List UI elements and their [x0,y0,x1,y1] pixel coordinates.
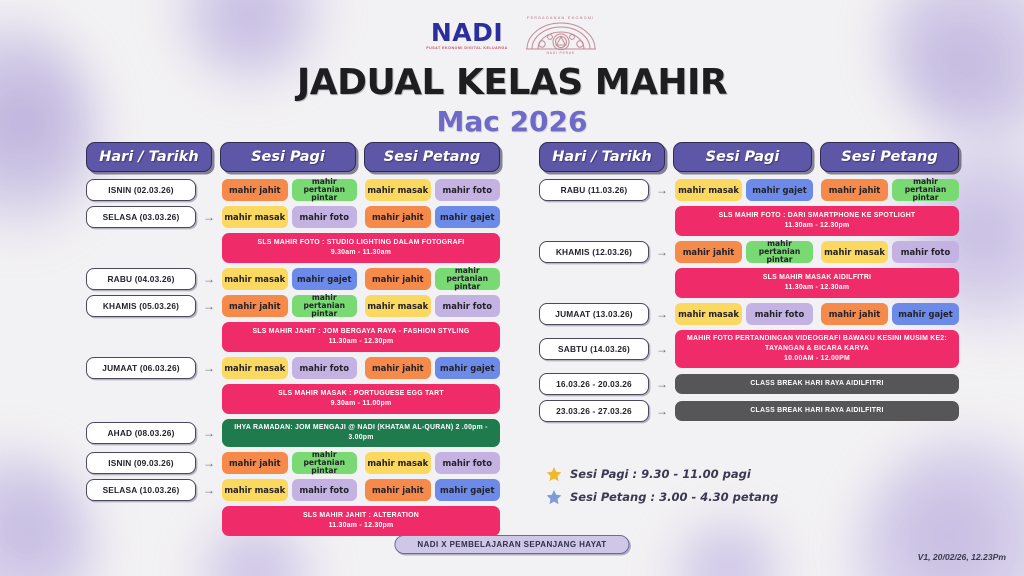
banner-row: SLS MAHIR FOTO : DARI SMARTPHONE KE SPOT… [539,206,959,236]
banner-line: 11.30am - 12.30pm [785,221,850,231]
session-banner[interactable]: SLS MAHIR FOTO : STUDIO LIGHTING DALAM F… [222,233,500,263]
table-row: ISNIN (02.03.26)mahir jahitmahir pertani… [86,179,500,201]
table-body-right: RABU (11.03.26)→mahir masakmahir gajetma… [539,179,959,422]
day-date-cell[interactable]: RABU (04.03.26) [86,268,196,290]
sessions-group: mahir jahitmahir pertanian pintarmahir m… [222,295,500,317]
session-morning: mahir masakmahir foto [222,479,357,501]
class-pill[interactable]: mahir foto [435,179,501,201]
session-morning: mahir masakmahir gajet [222,268,357,290]
banner-line: 11.30am - 12.30am [785,283,849,293]
table-row: KHAMIS (12.03.26)→mahir jahitmahir perta… [539,241,959,263]
session-morning: mahir masakmahir gajet [675,179,813,201]
class-pill[interactable]: mahir pertanian pintar [892,179,959,201]
poster-canvas: NADI PUSAT EKONOMI DIGITAL KELUARGA PERB… [0,0,1024,576]
banner-row: SLS MAHIR MASAK : PORTUGUESE EGG TART9.3… [86,384,500,414]
day-date-cell[interactable]: RABU (11.03.26) [539,179,649,201]
class-pill[interactable]: mahir jahit [365,268,431,290]
nadi-logo-subtext: PUSAT EKONOMI DIGITAL KELUARGA [426,47,507,51]
star-icon-evening [546,489,562,505]
column-header-morning: Sesi Pagi [220,142,356,172]
banner-wrap: CLASS BREAK HARI RAYA AIDILFITRI [675,374,959,394]
banner-wrap: SLS MAHIR FOTO : STUDIO LIGHTING DALAM F… [222,233,500,263]
day-date-cell[interactable]: 23.03.26 - 27.03.26 [539,400,649,422]
banner-line: CLASS BREAK HARI RAYA AIDILFITRI [750,379,883,389]
class-pill[interactable]: mahir gajet [435,479,501,501]
day-date-cell[interactable]: SELASA (10.03.26) [86,479,196,501]
sessions-group: mahir masakmahir fotomahir jahitmahir ga… [222,357,500,379]
session-evening: mahir masakmahir foto [365,295,500,317]
table-row: SABTU (14.03.26)→MAHIR FOTO PERTANDINGAN… [539,330,959,368]
sessions-group: mahir masakmahir fotomahir jahitmahir ga… [222,206,500,228]
session-evening: mahir jahitmahir gajet [365,479,500,501]
star-icon-morning [546,466,562,482]
table-row: ISNIN (09.03.26)→mahir jahitmahir pertan… [86,452,500,474]
decorative-blob [0,451,95,576]
class-pill[interactable]: mahir foto [292,206,358,228]
table-header-row: Hari / Tarikh Sesi Pagi Sesi Petang [86,140,500,174]
arrow-icon: → [202,457,216,469]
arrow-icon: → [655,308,669,320]
class-pill[interactable]: mahir foto [746,303,813,325]
class-pill[interactable]: mahir masak [222,479,288,501]
class-pill[interactable]: mahir jahit [365,206,431,228]
seal-bottom-text: NADI PERAK [546,51,575,55]
class-pill[interactable]: mahir gajet [892,303,959,325]
seal-emblem-icon [524,20,598,50]
legend-item: Sesi Pagi : 9.30 - 11.00 pagi [546,466,778,482]
class-pill[interactable]: mahir masak [222,268,288,290]
column-header-evening: Sesi Petang [820,142,959,172]
banner-line: 9.30am - 11.00pm [331,399,392,409]
arrow-icon: → [655,378,669,390]
banner-row: SLS MAHIR JAHIT : JOM BERGAYA RAYA - FAS… [86,322,500,352]
nadi-wordmark: NADI [431,20,503,45]
session-banner[interactable]: SLS MAHIR JAHIT : JOM BERGAYA RAYA - FAS… [222,322,500,352]
banner-line: SLS MAHIR JAHIT : JOM BERGAYA RAYA - FAS… [252,327,469,337]
session-banner[interactable]: CLASS BREAK HARI RAYA AIDILFITRI [675,374,959,394]
table-row: KHAMIS (05.03.26)→mahir jahitmahir perta… [86,295,500,317]
session-banner[interactable]: SLS MAHIR FOTO : DARI SMARTPHONE KE SPOT… [675,206,959,236]
class-pill[interactable]: mahir foto [292,479,358,501]
class-pill[interactable]: mahir foto [435,452,501,474]
table-row: SELASA (03.03.26)→mahir masakmahir fotom… [86,206,500,228]
version-stamp: V1, 20/02/26, 12.23Pm [918,552,1006,562]
banner-line: TAYANGAN & BICARA KARYA [765,344,869,354]
arrow-icon: → [202,273,216,285]
arrow-icon: → [655,405,669,417]
poster-header: NADI PUSAT EKONOMI DIGITAL KELUARGA PERB… [0,14,1024,138]
banner-line: 11.30am - 12.30pm [329,337,394,347]
banner-line: SLS MAHIR FOTO : DARI SMARTPHONE KE SPOT… [719,211,916,221]
class-pill[interactable]: mahir jahit [222,295,288,317]
sessions-group: mahir jahitmahir pertanian pintarmahir m… [675,241,959,263]
banner-line: SLS MAHIR MASAK : PORTUGUESE EGG TART [278,389,444,399]
banner-line: 9.30am - 11.30am [331,248,391,258]
table-row: JUMAAT (06.03.26)→mahir masakmahir fotom… [86,357,500,379]
arrow-icon: → [202,484,216,496]
session-evening: mahir jahitmahir pertanian pintar [821,179,959,201]
table-row: RABU (04.03.26)→mahir masakmahir gajetma… [86,268,500,290]
class-pill[interactable]: mahir foto [292,357,358,379]
banner-row: SLS MAHIR FOTO : STUDIO LIGHTING DALAM F… [86,233,500,263]
class-pill[interactable]: mahir jahit [821,303,888,325]
class-pill[interactable]: mahir masak [821,241,888,263]
day-date-cell[interactable]: JUMAAT (13.03.26) [539,303,649,325]
session-banner[interactable]: CLASS BREAK HARI RAYA AIDILFITRI [675,401,959,421]
session-banner[interactable]: IHYA RAMADAN: JOM MENGAJI @ NADI (KHATAM… [222,419,500,447]
banner-line: MAHIR FOTO PERTANDINGAN VIDEOGRAFI BAWAK… [687,334,947,344]
banner-row: SLS MAHIR JAHIT : ALTERATION11.30am - 12… [86,506,500,536]
session-evening: mahir jahitmahir gajet [365,357,500,379]
session-banner[interactable]: SLS MAHIR JAHIT : ALTERATION11.30am - 12… [222,506,500,536]
day-date-cell[interactable]: ISNIN (09.03.26) [86,452,196,474]
class-pill[interactable]: mahir jahit [365,357,431,379]
banner-line: CLASS BREAK HARI RAYA AIDILFITRI [750,406,883,416]
class-pill[interactable]: mahir masak [675,303,742,325]
arrow-icon: → [202,300,216,312]
session-morning: mahir masakmahir foto [222,206,357,228]
table-row: RABU (11.03.26)→mahir masakmahir gajetma… [539,179,959,201]
legend: Sesi Pagi : 9.30 - 11.00 pagi Sesi Petan… [546,466,778,512]
banner-wrap: SLS MAHIR JAHIT : JOM BERGAYA RAYA - FAS… [222,322,500,352]
page-title: JADUAL KELAS MAHIR [0,62,1024,103]
column-header-morning: Sesi Pagi [673,142,812,172]
session-evening: mahir masakmahir foto [821,241,959,263]
class-pill[interactable]: mahir jahit [222,179,288,201]
class-pill[interactable]: mahir jahit [675,241,742,263]
class-pill[interactable]: mahir pertanian pintar [292,452,358,474]
arrow-icon: → [202,427,216,439]
session-evening: mahir jahitmahir pertanian pintar [365,268,500,290]
sessions-group: mahir masakmahir gajetmahir jahitmahir p… [222,268,500,290]
class-pill[interactable]: mahir gajet [292,268,358,290]
banner-line: SLS MAHIR JAHIT : ALTERATION [303,511,419,521]
day-date-cell[interactable]: KHAMIS (05.03.26) [86,295,196,317]
day-date-cell[interactable]: 16.03.26 - 20.03.26 [539,373,649,395]
session-morning: mahir jahitmahir pertanian pintar [675,241,813,263]
class-pill[interactable]: mahir pertanian pintar [746,241,813,263]
banner-wrap: SLS MAHIR FOTO : DARI SMARTPHONE KE SPOT… [675,206,959,236]
session-evening: mahir jahitmahir gajet [365,206,500,228]
sessions-group: mahir masakmahir fotomahir jahitmahir ga… [222,479,500,501]
nadi-logo: NADI PUSAT EKONOMI DIGITAL KELUARGA [426,20,507,51]
class-pill[interactable]: mahir jahit [821,179,888,201]
class-pill[interactable]: mahir foto [435,295,501,317]
class-pill[interactable]: mahir masak [365,452,431,474]
session-banner[interactable]: SLS MAHIR MASAK AIDILFITRI11.30am - 12.3… [675,268,959,298]
table-body-left: ISNIN (02.03.26)mahir jahitmahir pertani… [86,179,500,536]
class-pill[interactable]: mahir jahit [222,452,288,474]
banner-wrap: IHYA RAMADAN: JOM MENGAJI @ NADI (KHATAM… [222,419,500,447]
class-pill[interactable]: mahir gajet [435,206,501,228]
banner-row: SLS MAHIR MASAK AIDILFITRI11.30am - 12.3… [539,268,959,298]
sessions-group: mahir masakmahir gajetmahir jahitmahir p… [675,179,959,201]
class-pill[interactable]: mahir pertanian pintar [435,268,501,290]
sessions-group: mahir jahitmahir pertanian pintarmahir m… [222,452,500,474]
session-evening: mahir masakmahir foto [365,179,500,201]
arrow-icon: → [202,362,216,374]
page-subtitle: Mac 2026 [0,105,1024,138]
table-row: 16.03.26 - 20.03.26→CLASS BREAK HARI RAY… [539,373,959,395]
class-pill[interactable]: mahir pertanian pintar [292,179,358,201]
class-pill[interactable]: mahir masak [675,179,742,201]
session-evening: mahir masakmahir foto [365,452,500,474]
banner-wrap: SLS MAHIR MASAK : PORTUGUESE EGG TART9.3… [222,384,500,414]
session-banner[interactable]: SLS MAHIR MASAK : PORTUGUESE EGG TART9.3… [222,384,500,414]
day-date-cell[interactable]: SABTU (14.03.26) [539,338,649,360]
class-pill[interactable]: mahir masak [222,206,288,228]
table-header-row: Hari / Tarikh Sesi Pagi Sesi Petang [539,140,959,174]
table-row: 23.03.26 - 27.03.26→CLASS BREAK HARI RAY… [539,400,959,422]
banner-line: 11.30am - 12.30pm [329,521,394,531]
banner-line: 10.00AM - 12.00PM [784,354,850,364]
class-pill[interactable]: mahir gajet [435,357,501,379]
class-pill[interactable]: mahir masak [365,179,431,201]
column-header-evening: Sesi Petang [364,142,500,172]
class-pill[interactable]: mahir masak [222,357,288,379]
banner-line: SLS MAHIR FOTO : STUDIO LIGHTING DALAM F… [258,238,465,248]
banner-wrap: CLASS BREAK HARI RAYA AIDILFITRI [675,401,959,421]
table-row: JUMAAT (13.03.26)→mahir masakmahir fotom… [539,303,959,325]
sessions-group: mahir jahitmahir pertanian pintarmahir m… [222,179,500,201]
class-pill[interactable]: mahir masak [365,295,431,317]
session-morning: mahir masakmahir foto [675,303,813,325]
banner-wrap: SLS MAHIR JAHIT : ALTERATION11.30am - 12… [222,506,500,536]
class-pill[interactable]: mahir pertanian pintar [292,295,358,317]
decorative-blob [668,520,788,576]
legend-text: Sesi Pagi : 9.30 - 11.00 pagi [570,467,751,481]
session-morning: mahir masakmahir foto [222,357,357,379]
day-date-cell[interactable]: SELASA (03.03.26) [86,206,196,228]
day-date-cell[interactable]: AHAD (08.03.26) [86,422,196,444]
table-row: AHAD (08.03.26)→IHYA RAMADAN: JOM MENGAJ… [86,419,500,447]
logo-row: NADI PUSAT EKONOMI DIGITAL KELUARGA PERB… [0,14,1024,56]
session-morning: mahir jahitmahir pertanian pintar [222,295,357,317]
column-header-day: Hari / Tarikh [539,142,665,172]
banner-wrap: SLS MAHIR MASAK AIDILFITRI11.30am - 12.3… [675,268,959,298]
banner-line: IHYA RAMADAN: JOM MENGAJI @ NADI (KHATAM… [228,423,494,443]
footer-tagline: NADI X PEMBELAJARAN SEPANJANG HAYAT [394,535,629,554]
day-date-cell[interactable]: ISNIN (02.03.26) [86,179,196,201]
perak-seal-logo: PERBADANAN EKONOMI [524,16,598,55]
arrow-icon: → [655,343,669,355]
sessions-group: mahir masakmahir fotomahir jahitmahir ga… [675,303,959,325]
arrow-icon: → [655,246,669,258]
schedule-table-left: Hari / Tarikh Sesi Pagi Sesi Petang ISNI… [86,140,500,536]
column-header-day: Hari / Tarikh [86,142,212,172]
table-row: SELASA (10.03.26)→mahir masakmahir fotom… [86,479,500,501]
day-date-cell[interactable]: KHAMIS (12.03.26) [539,241,649,263]
session-morning: mahir jahitmahir pertanian pintar [222,452,357,474]
legend-item: Sesi Petang : 3.00 - 4.30 petang [546,489,778,505]
arrow-icon: → [202,211,216,223]
class-pill[interactable]: mahir gajet [746,179,813,201]
class-pill[interactable]: mahir foto [892,241,959,263]
arrow-icon: → [655,184,669,196]
banner-line: SLS MAHIR MASAK AIDILFITRI [763,273,871,283]
class-pill[interactable]: mahir jahit [365,479,431,501]
banner-wrap: MAHIR FOTO PERTANDINGAN VIDEOGRAFI BAWAK… [675,330,959,368]
legend-text: Sesi Petang : 3.00 - 4.30 petang [570,490,778,504]
session-evening: mahir jahitmahir gajet [821,303,959,325]
schedule-table-right: Hari / Tarikh Sesi Pagi Sesi Petang RABU… [539,140,959,422]
session-morning: mahir jahitmahir pertanian pintar [222,179,357,201]
day-date-cell[interactable]: JUMAAT (06.03.26) [86,357,196,379]
session-banner[interactable]: MAHIR FOTO PERTANDINGAN VIDEOGRAFI BAWAK… [675,330,959,368]
